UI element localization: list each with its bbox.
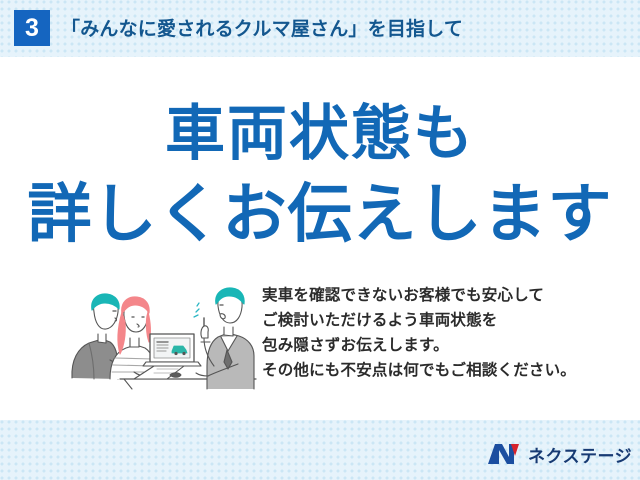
advertisement-slide: 3 「みんなに愛されるクルマ屋さん」を目指して 車両状態も 詳しくお伝えします … [0, 0, 640, 480]
body-copy: 実車を確認できないお客様でも安心して ご検討いただけるよう車両状態を 包み隠さず… [262, 283, 622, 383]
consultation-illustration [58, 276, 258, 390]
nextage-n-logo-icon [487, 442, 521, 466]
brand-logo-text: ネクステージ [528, 442, 632, 467]
body-copy-line-1: 実車を確認できないお客様でも安心して [262, 283, 622, 308]
body-copy-line-2: ご検討いただけるよう車両状態を [262, 308, 622, 333]
headline-line-2: 詳しくお伝えします [0, 182, 640, 246]
header-title: 「みんなに愛されるクルマ屋さん」を目指して [61, 14, 463, 41]
body-copy-line-4: その他にも不安点は何でもご相談ください。 [262, 358, 622, 383]
headline-line-1: 車両状態も [0, 104, 640, 164]
section-number-badge: 3 [14, 10, 50, 46]
brand-logo: ネクステージ [487, 441, 632, 467]
body-copy-line-3: 包み隠さずお伝えします。 [262, 333, 622, 358]
